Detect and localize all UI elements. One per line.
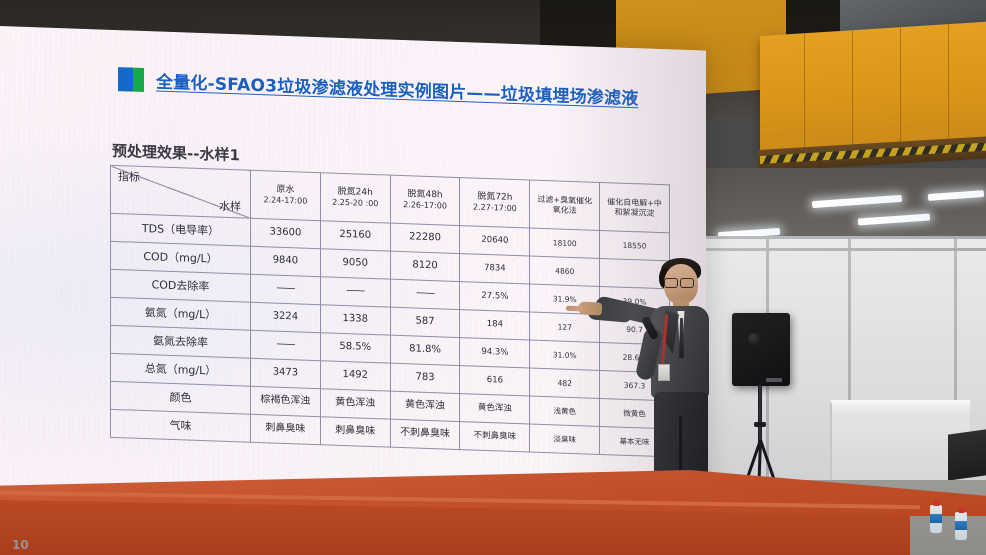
booth-fixture (948, 429, 986, 480)
table-cell: 3224 (251, 302, 321, 332)
table-cell: 1338 (320, 305, 390, 335)
table-cell: —— (320, 277, 390, 307)
column-header: 过滤+臭氧催化 氧化法 (530, 180, 600, 230)
table-body: TDS（电导率）336002516022280206401810018550CO… (111, 213, 670, 457)
slide-title: 全量化-SFAO3垃圾渗滤液处理实例图片——垃圾填埋场渗滤液 (156, 67, 638, 109)
table-cell: 8120 (390, 251, 460, 281)
presenter-glasses-icon (664, 278, 694, 286)
table-cell: 27.5% (460, 282, 530, 312)
presenter-pointing-finger (566, 306, 582, 312)
company-square-logo-icon (118, 67, 144, 92)
table-cell: 棕褐色浑浊 (251, 386, 321, 416)
tripod-knob (754, 422, 766, 427)
table-cell: 不刺鼻臭味 (460, 422, 530, 452)
column-header: 脱氮24h 2.25-20 :00 (320, 173, 390, 223)
presenter-badge (658, 364, 670, 381)
ceiling-light (812, 195, 902, 208)
table-cell: 7834 (460, 254, 530, 284)
table-cell: 3473 (251, 358, 321, 388)
projection-screen: 全量化-SFAO3垃圾渗滤液处理实例图片——垃圾填埋场渗滤液 预处理效果--水样… (0, 26, 706, 535)
row-label: 气味 (111, 409, 251, 442)
speaker-brand-badge (766, 378, 782, 382)
column-header-line2: 2.27-17:00 (461, 202, 528, 214)
column-header: 脱氮72h 2.27-17:00 (460, 178, 530, 228)
column-header-line2: 2.26-17:00 (392, 200, 459, 212)
table-cell: 58.5% (320, 333, 390, 363)
table-cell: 黄色浑浊 (460, 394, 530, 424)
table-cell: 黄色浑浊 (320, 389, 390, 419)
table-cell: 不刺鼻臭味 (390, 419, 460, 449)
speaker-driver-icon (748, 333, 760, 345)
column-header-line2: 2.25-20 :00 (322, 197, 389, 209)
ceiling-light (858, 213, 930, 225)
table-cell: 9840 (251, 246, 321, 276)
table-cell: 616 (460, 366, 530, 396)
slide-title-row: 全量化-SFAO3垃圾渗滤液处理实例图片——垃圾填埋场渗滤液 (118, 66, 638, 109)
table-cell: 81.8% (390, 335, 460, 365)
table-cell: 33600 (251, 218, 321, 248)
table-cell: 482 (530, 368, 600, 398)
table-cell: 587 (390, 307, 460, 337)
table-cell: 刺鼻臭味 (320, 417, 390, 447)
slide-subtitle: 预处理效果--水样1 (112, 140, 240, 165)
table-cell: 18100 (530, 228, 600, 258)
water-bottle (930, 505, 942, 533)
table-cell: 淡臭味 (530, 424, 600, 454)
table-cell: 9050 (320, 249, 390, 279)
table-cell: 94.3% (460, 338, 530, 368)
column-header: 原水 2.24-17:00 (251, 170, 321, 220)
column-header: 催化自电解+中 和絮凝沉淀 (600, 182, 670, 232)
slide-content: 全量化-SFAO3垃圾渗滤液处理实例图片——垃圾填埋场渗滤液 预处理效果--水样… (0, 26, 706, 535)
corner-bottom-label: 水样 (219, 200, 241, 215)
table-cell: —— (390, 279, 460, 309)
pa-speaker (732, 313, 790, 386)
table-cell: 20640 (460, 226, 530, 256)
slide-page-number: 10 (12, 538, 29, 552)
table-cell: 浅黄色 (530, 396, 600, 426)
table-cell: 黄色浑浊 (390, 391, 460, 421)
corner-top-label: 指标 (118, 170, 140, 185)
table-cell: 184 (460, 310, 530, 340)
table-cell: —— (251, 274, 321, 304)
table-cell: —— (251, 330, 321, 360)
column-header: 脱氮48h 2.26-17:00 (390, 175, 460, 225)
table-cell: 1492 (320, 361, 390, 391)
table-corner-cell: 指标 水样 (111, 165, 251, 218)
table-cell: 4860 (530, 256, 600, 286)
ceiling-light (928, 190, 984, 201)
tripod-pole (758, 385, 762, 447)
conference-photo-scene: 全量化-SFAO3垃圾渗滤液处理实例图片——垃圾填埋场渗滤液 预处理效果--水样… (0, 0, 986, 555)
table-cell: 22280 (390, 223, 460, 253)
water-bottle (955, 512, 967, 540)
table-cell: 31.0% (530, 340, 600, 370)
table-cell: 刺鼻臭味 (251, 414, 321, 444)
column-header-line2: 2.24-17:00 (252, 195, 319, 207)
table-cell: 25160 (320, 221, 390, 251)
table-cell: 783 (390, 363, 460, 393)
